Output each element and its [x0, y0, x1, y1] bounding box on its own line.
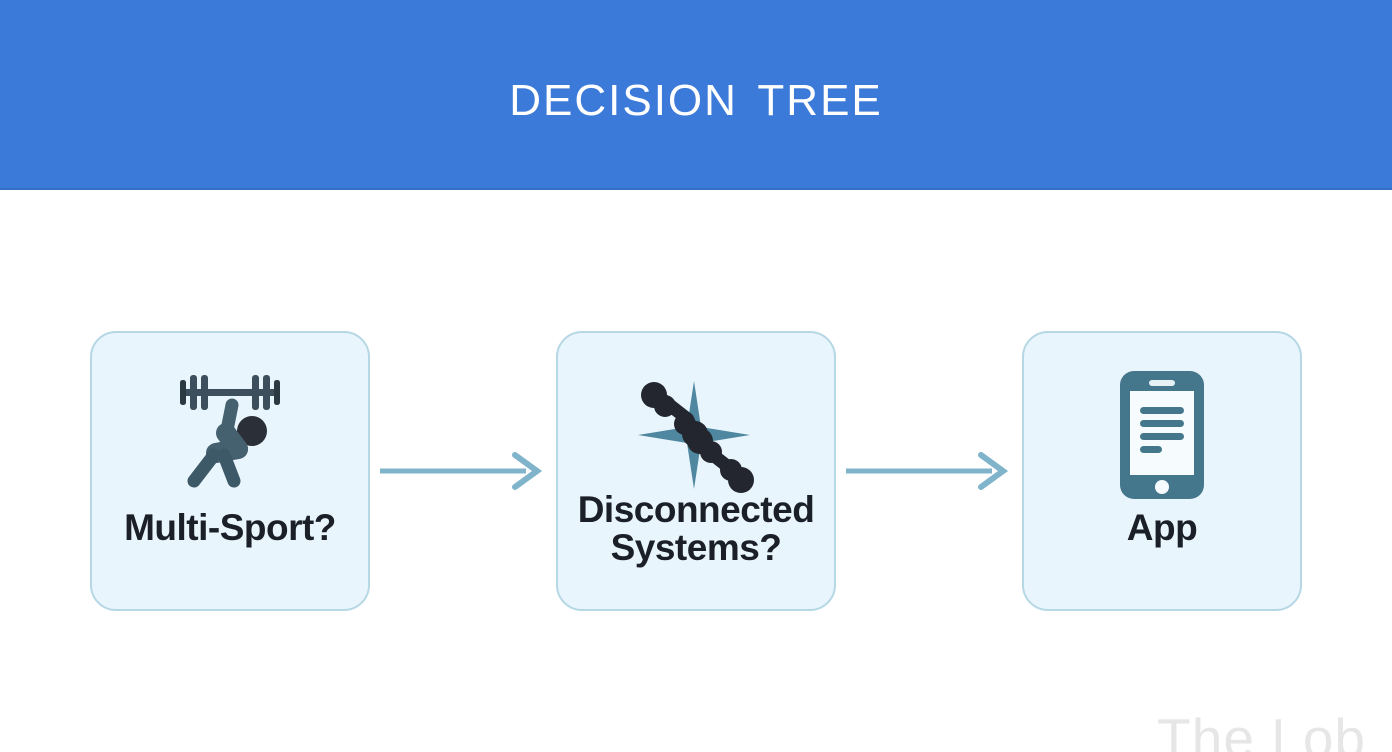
arrow-right-icon — [378, 451, 548, 491]
flow-card-label-line: App — [1032, 509, 1292, 547]
flow-card-label: App — [1024, 509, 1300, 547]
arrow-right-icon — [844, 451, 1014, 491]
flow-card-label: Multi-Sport? — [92, 509, 368, 547]
title-header-band: Decision Tree — [0, 0, 1392, 190]
flow-connector-1 — [370, 451, 556, 491]
dumbbells-sparkle-icon — [632, 365, 760, 505]
page-title: Decision Tree — [509, 63, 883, 126]
decision-flow-row: Multi-Sport? — [0, 190, 1392, 752]
flow-card-label-line: Multi-Sport? — [100, 509, 360, 547]
flow-connector-2 — [836, 451, 1022, 491]
smartphone-icon — [1116, 365, 1208, 505]
flow-card-multi-sport[interactable]: Multi-Sport? — [90, 331, 370, 611]
weightlifter-icon — [164, 365, 296, 505]
flow-card-app[interactable]: App — [1022, 331, 1302, 611]
flow-card-label-line: Disconnected — [566, 491, 826, 529]
flow-card-label-line: Systems? — [566, 529, 826, 567]
flow-card-label: Disconnected Systems? — [558, 491, 834, 566]
watermark-text: The Lob — [1157, 711, 1366, 752]
flow-card-disconnected-systems[interactable]: Disconnected Systems? — [556, 331, 836, 611]
